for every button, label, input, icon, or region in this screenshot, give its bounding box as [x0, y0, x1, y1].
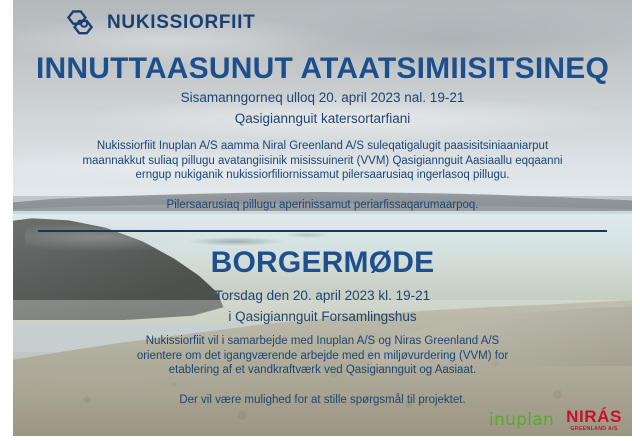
subline-danish-venue: i Qasigiannguit Forsamlingshus: [13, 309, 632, 324]
body-greenlandic-line-3: erngup nukiganik nukissiorfiliornissamut…: [13, 168, 632, 183]
body-greenlandic-line-2: maannakkut suliaq pillugu avatangiisinik…: [13, 154, 632, 169]
brand-name: NUKISSIORFIIT: [107, 12, 255, 34]
niras-subtitle: GREENLAND A/S: [566, 427, 622, 432]
headline-danish: BORGERMØDE: [13, 246, 632, 280]
nukissiorfiit-logo-icon: [63, 6, 97, 40]
body-danish-line-2: orientere om det igangværende arbejde me…: [13, 349, 632, 364]
body-danish: Nukissiorfiit vil i samarbejde med Inupl…: [13, 334, 632, 378]
body-danish-line-1: Nukissiorfiit vil i samarbejde med Inupl…: [13, 334, 632, 349]
note-danish: Der vil være mulighed for at stille spør…: [13, 393, 632, 408]
poster: NUKISSIORFIIT INNUTTAASUNUT ATAATSIMIISI…: [13, 0, 632, 436]
body-greenlandic: Nukissiorfiit Inuplan A/S aamma Niral Gr…: [13, 139, 632, 183]
brand-lockup: NUKISSIORFIIT: [63, 6, 255, 40]
partner-logos: inuplan NIRÁS GREENLAND A/S: [489, 408, 622, 432]
niras-wordmark: NIRÁS: [566, 407, 622, 426]
note-greenlandic: Pilersaarusiaq pillugu aperinissamut per…: [13, 198, 632, 213]
niras-logo: NIRÁS GREENLAND A/S: [566, 408, 622, 432]
body-greenlandic-line-1: Nukissiorfiit Inuplan A/S aamma Niral Gr…: [13, 139, 632, 154]
subline-danish-datetime: Torsdag den 20. april 2023 kl. 19-21: [13, 288, 632, 303]
body-danish-line-3: etablering af et vandkraftværk ved Qasig…: [13, 363, 632, 378]
language-divider: [38, 230, 607, 232]
poster-content: NUKISSIORFIIT INNUTTAASUNUT ATAATSIMIISI…: [13, 0, 632, 436]
headline-greenlandic: INNUTTAASUNUT ATAATSIMIISITSINEQ: [13, 52, 632, 86]
inuplan-logo: inuplan: [489, 412, 554, 432]
subline-greenlandic-datetime: Sisamanngorneq ulloq 20. april 2023 nal.…: [13, 90, 632, 105]
subline-greenlandic-venue: Qasigiannguit katersortarfiani: [13, 111, 632, 126]
